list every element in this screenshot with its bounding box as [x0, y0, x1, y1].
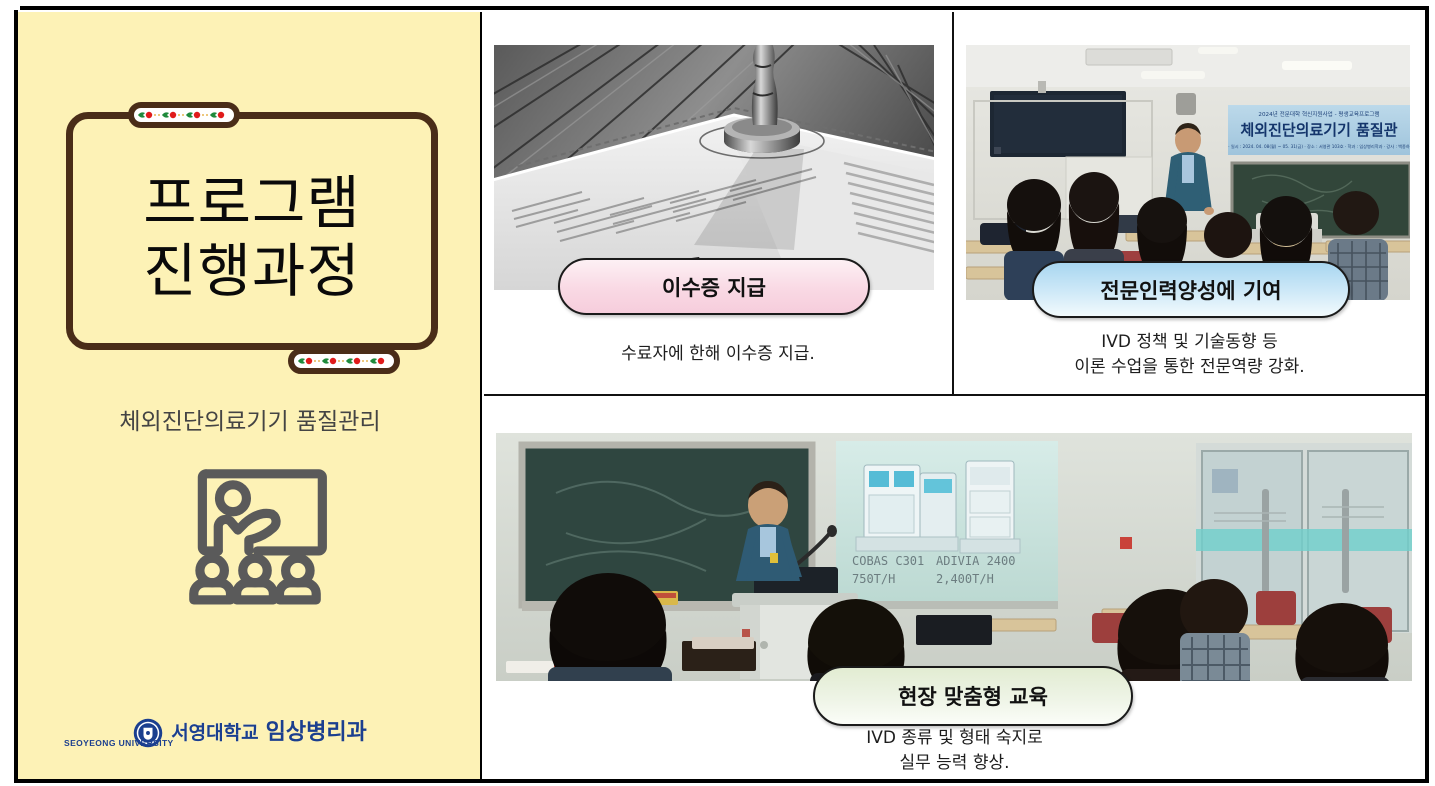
frame-border-right: [1425, 6, 1429, 780]
svg-text:750T/H: 750T/H: [852, 572, 895, 586]
holly-berry-decoration-icon: [128, 102, 240, 128]
caption-body-line: IVD 종류 및 형태 숙지로: [484, 726, 1425, 751]
caption-body-line: IVD 정책 및 기술동향 등: [954, 330, 1425, 355]
frame-border-bottom: [14, 779, 1429, 783]
university-name-ko: 서영대학교: [171, 724, 258, 743]
content-cell-expertise: 2024년 전문대학 혁신지원사업 - 평생교육프로그램 체외진단의료기기 품질…: [954, 12, 1425, 394]
caption-body-certificate: 수료자에 한해 이수증 지급.: [484, 342, 952, 367]
caption-body-line: 이론 수업을 통한 전문역량 강화.: [954, 355, 1425, 380]
svg-text:2024년 전문대학 혁신지원사업 - 평생교육프로그램: 2024년 전문대학 혁신지원사업 - 평생교육프로그램: [1258, 110, 1379, 118]
caption-pill-field: 현장 맞춤형 교육: [813, 666, 1133, 726]
left-title-panel: 프로그램 진행과정 체외진단의료기기 품질관리: [18, 12, 482, 779]
caption-body-line: 수료자에 한해 이수증 지급.: [484, 342, 952, 367]
panel-subtitle: 체외진단의료기기 품질관리: [18, 402, 482, 436]
podium-lecture-photo: COBAS C301 750T/H ADIVIA 2400 2,400T/H: [496, 433, 1412, 681]
department-name: 임상병리과: [266, 722, 367, 744]
caption-pill-label: 이수증 지급: [662, 272, 766, 302]
caption-body-line: 실무 능력 향상.: [484, 751, 1425, 776]
panel-title-line-2: 진행과정: [73, 237, 431, 305]
caption-pill-expertise: 전문인력양성에 기여: [1032, 261, 1350, 318]
caption-body-field: IVD 종류 및 형태 숙지로 실무 능력 향상.: [484, 726, 1425, 775]
caption-pill-certificate: 이수증 지급: [558, 258, 870, 315]
svg-text:ADIVIA 2400: ADIVIA 2400: [936, 554, 1015, 568]
classroom-lecture-icon: [181, 464, 329, 606]
title-decorative-box: 프로그램 진행과정: [66, 112, 438, 350]
svg-text:COBAS C301: COBAS C301: [852, 554, 924, 568]
content-cell-field: COBAS C301 750T/H ADIVIA 2400 2,400T/H: [484, 396, 1425, 779]
caption-pill-label: 현장 맞춤형 교육: [898, 681, 1048, 711]
svg-text:체외진단의료기기 품질관: 체외진단의료기기 품질관: [1240, 121, 1397, 139]
content-cell-certificate: 이수증 지급 수료자에 한해 이수증 지급.: [484, 12, 952, 394]
caption-body-expertise: IVD 정책 및 기술동향 등 이론 수업을 통한 전문역량 강화.: [954, 330, 1425, 379]
university-logo: 서영대학교 임상병리과 SEOYEONG UNIVERSITY: [18, 718, 482, 748]
seal-stamp-photo: [494, 45, 934, 290]
content-grid: 이수증 지급 수료자에 한해 이수증 지급.: [484, 12, 1425, 779]
svg-text:2,400T/H: 2,400T/H: [936, 572, 994, 586]
holly-berry-decoration-icon: [288, 348, 400, 374]
caption-pill-label: 전문인력양성에 기여: [1100, 275, 1281, 305]
university-logo-text: 서영대학교 임상병리과: [171, 722, 367, 744]
university-name-en: SEOYEONG UNIVERSITY: [64, 738, 174, 748]
frame-border-top: [20, 6, 1429, 10]
slide-canvas: 프로그램 진행과정 체외진단의료기기 품질관리: [0, 0, 1435, 786]
svg-text:· 일시 : 2024. 04. 08(월) ~ 05. 3: · 일시 : 2024. 04. 08(월) ~ 05. 31(금) · 장소 …: [1228, 143, 1410, 150]
panel-title-line-1: 프로그램: [73, 169, 431, 237]
panel-title: 프로그램 진행과정: [73, 169, 431, 306]
